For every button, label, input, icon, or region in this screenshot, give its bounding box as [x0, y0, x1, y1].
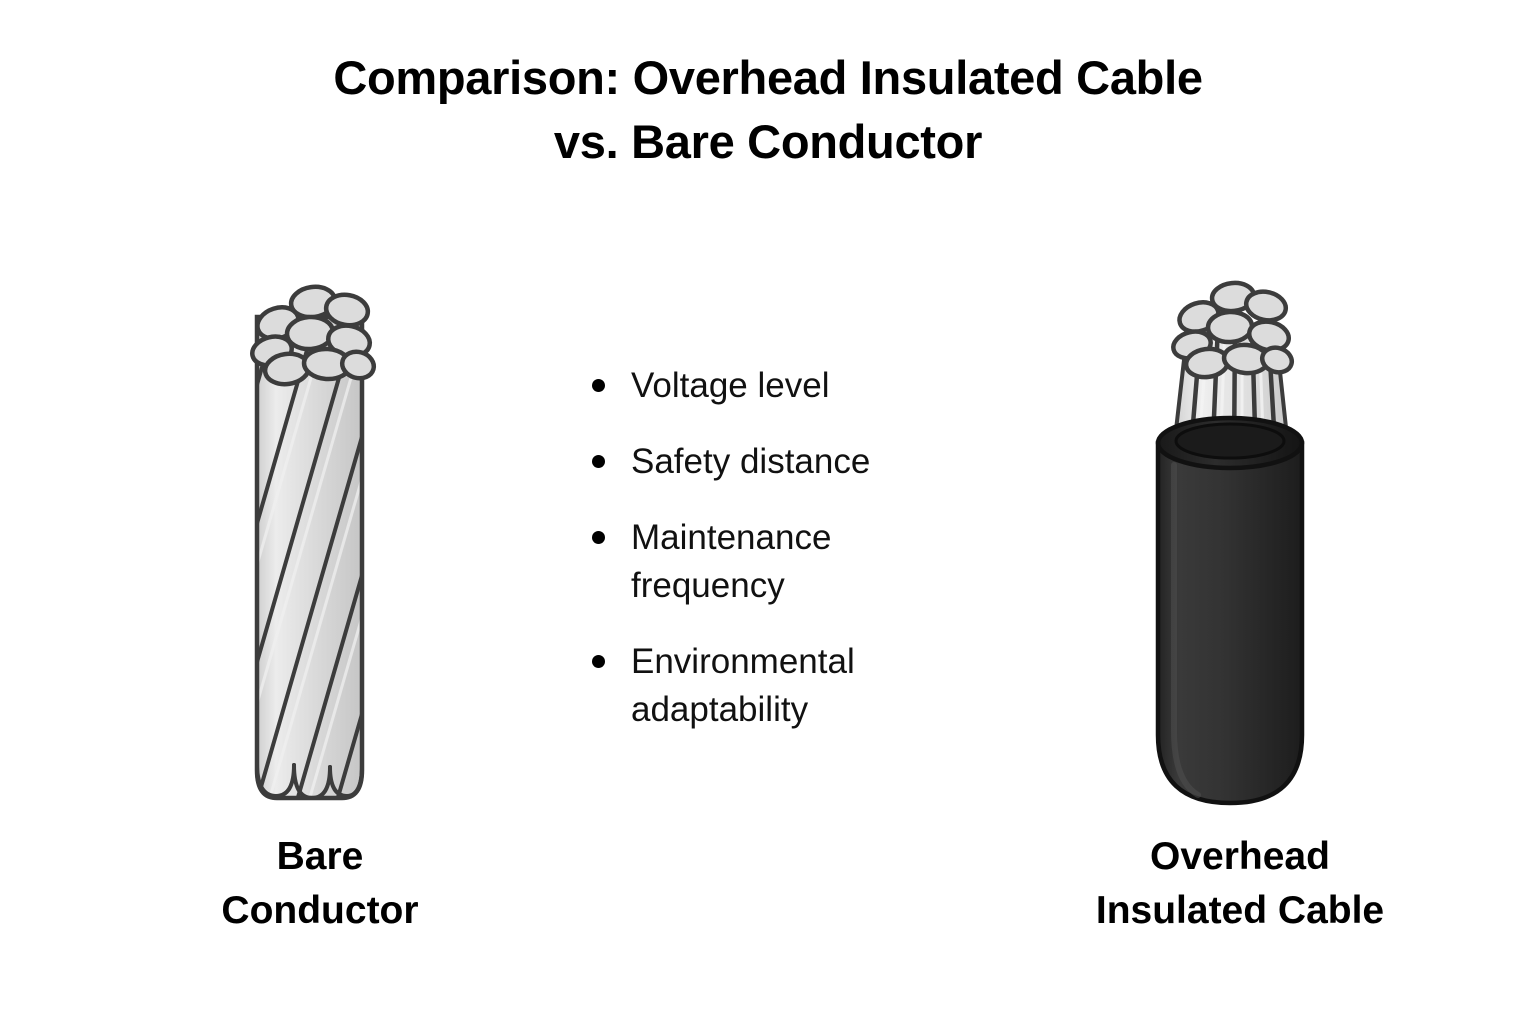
bullet-icon: [592, 379, 605, 392]
feature-label: Voltage level: [631, 362, 829, 410]
insulated-cable-illustration: [1130, 265, 1330, 825]
list-item: Safety distance: [592, 438, 1012, 486]
feature-label: Environmental adaptability: [631, 638, 971, 734]
list-item: Environmental adaptability: [592, 638, 1012, 734]
bare-conductor-caption: Bare Conductor: [130, 830, 510, 938]
feature-list: Voltage level Safety distance Maintenanc…: [592, 362, 1012, 762]
page-title-line-1: Comparison: Overhead Insulated Cable: [0, 46, 1536, 110]
bullet-icon: [592, 531, 605, 544]
list-item: Voltage level: [592, 362, 1012, 410]
page-title: Comparison: Overhead Insulated Cable vs.…: [0, 46, 1536, 174]
insulated-cable-caption-line-1: Overhead: [1000, 830, 1480, 884]
bullet-icon: [592, 455, 605, 468]
insulated-cable-svg: [1130, 265, 1330, 825]
cable-insulation-jacket: [1158, 385, 1302, 803]
bare-conductor-caption-line-2: Conductor: [130, 884, 510, 938]
insulated-cable-caption-line-2: Insulated Cable: [1000, 884, 1480, 938]
bare-conductor-strand-tips: [249, 284, 377, 387]
feature-label: Maintenance frequency: [631, 514, 971, 610]
feature-label: Safety distance: [631, 438, 870, 486]
page-title-line-2: vs. Bare Conductor: [0, 110, 1536, 174]
bare-conductor-body: [230, 305, 410, 825]
bullet-icon: [592, 655, 605, 668]
insulated-cable-caption: Overhead Insulated Cable: [1000, 830, 1480, 938]
bare-conductor-svg: [230, 265, 410, 825]
insulated-cable-strand-tips: [1170, 281, 1294, 380]
bare-conductor-caption-line-1: Bare: [130, 830, 510, 884]
list-item: Maintenance frequency: [592, 514, 1012, 610]
bare-conductor-illustration: [230, 265, 410, 825]
